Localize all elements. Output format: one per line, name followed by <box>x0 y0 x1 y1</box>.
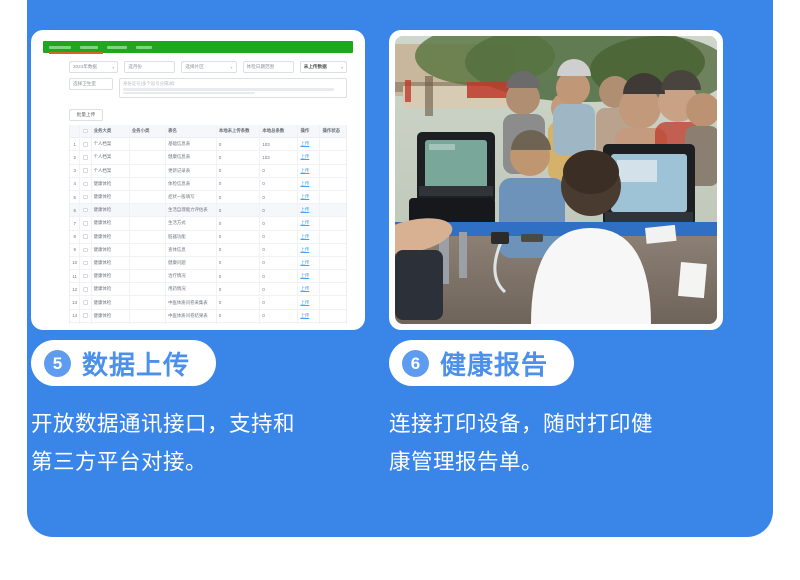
table-header-row: 业务大类 业务小类 表名 本地未上传条数 本地总条数 操作 操作状态 <box>70 125 346 138</box>
body-line-6-1: 连接打印设备，随时打印健 <box>389 405 723 443</box>
row-checkbox[interactable] <box>80 151 91 163</box>
cell-total-count: 0 <box>260 165 298 177</box>
table-body: 1个人档案基础信息表0103上传2个人档案健康信息表0103上传3个人档案更新记… <box>70 138 346 324</box>
filter-month-select[interactable]: 选月份 <box>124 61 175 73</box>
cell-total-count: 0 <box>260 283 298 295</box>
cell-category: 个人档案 <box>92 151 130 163</box>
body-line-5-2: 第三方平台对接。 <box>31 443 365 481</box>
th-total-count: 本地总条数 <box>260 125 298 137</box>
th-category: 业务大类 <box>92 125 130 137</box>
cell-category: 健康体检 <box>92 310 130 322</box>
cell-upload-link[interactable]: 上传 <box>298 244 320 256</box>
health-screening-photo <box>395 36 717 324</box>
nav-item-2[interactable] <box>80 46 98 49</box>
nav-item-4[interactable] <box>136 46 152 49</box>
row-checkbox[interactable] <box>80 191 91 203</box>
textarea-filler-1 <box>123 88 334 91</box>
filter-daterange-input[interactable]: 体检日期范围 <box>243 61 294 73</box>
th-status: 操作状态 <box>320 125 346 137</box>
section-title-6: 健康报告 <box>440 345 548 382</box>
body-copy-5: 开放数据通讯接口，支持和 第三方平台对接。 <box>31 405 365 481</box>
cell-index: 15 <box>70 323 80 324</box>
cell-index: 14 <box>70 310 80 322</box>
filter-area-select[interactable]: 选择片区 ▾ <box>181 61 236 73</box>
cell-subcategory <box>130 191 166 203</box>
cell-index: 11 <box>70 270 80 282</box>
cell-upload-link[interactable]: 上传 <box>298 257 320 269</box>
checkbox-icon[interactable] <box>83 142 88 147</box>
row-checkbox[interactable] <box>80 323 91 324</box>
clinic-select[interactable]: 选择卫生室 <box>69 78 113 90</box>
cell-category: 健康体检 <box>92 204 130 216</box>
cell-category: 健康体检 <box>92 191 130 203</box>
row-checkbox[interactable] <box>80 165 91 177</box>
th-operation: 操作 <box>298 125 320 137</box>
cell-pending-count: 0 <box>217 191 261 203</box>
cell-pending-count: 0 <box>217 244 261 256</box>
cell-status <box>320 217 346 229</box>
cell-upload-link[interactable]: 上传 <box>298 296 320 308</box>
photo-card <box>389 30 723 330</box>
cell-total-count: 103 <box>260 138 298 150</box>
cell-index: 8 <box>70 231 80 243</box>
cell-table-name: 生活方式 <box>166 217 217 229</box>
nav-item-1[interactable] <box>49 46 71 49</box>
cell-upload-link[interactable]: 上传 <box>298 310 320 322</box>
table-row[interactable]: 12健康体检用药情况00上传 <box>70 283 346 296</box>
row-checkbox[interactable] <box>80 257 91 269</box>
cell-status <box>320 151 346 163</box>
textarea-filler-2 <box>123 92 255 95</box>
cell-table-name: 治疗情况 <box>166 270 217 282</box>
body-copy-6: 连接打印设备，随时打印健 康管理报告单。 <box>389 405 723 481</box>
step-number-badge-6: 6 <box>402 350 429 377</box>
cell-upload-link[interactable]: 上传 <box>298 270 320 282</box>
cell-pending-count: 0 <box>217 283 261 295</box>
cell-status <box>320 323 346 324</box>
cell-upload-link[interactable]: 上传 <box>298 165 320 177</box>
idcard-placeholder: 身份证号(多个逗号分隔)如: <box>123 81 175 86</box>
cell-category: 健康体检 <box>92 296 130 308</box>
cell-upload-link[interactable]: 上传 <box>298 231 320 243</box>
cell-pending-count: 0 <box>217 270 261 282</box>
cell-upload-link[interactable]: 上传 <box>298 178 320 190</box>
cell-status <box>320 296 346 308</box>
section-title-5: 数据上传 <box>82 345 190 382</box>
cell-status <box>320 178 346 190</box>
section-pill-6: 6 健康报告 <box>389 340 574 386</box>
cell-pending-count: 0 <box>217 257 261 269</box>
filter-daterange-label: 体检日期范围 <box>247 64 275 70</box>
row-checkbox[interactable] <box>80 270 91 282</box>
cell-total-count: 0 <box>260 310 298 322</box>
checkbox-icon[interactable] <box>83 155 88 160</box>
cell-upload-link[interactable]: 上传 <box>298 191 320 203</box>
checkbox-icon[interactable] <box>83 300 88 305</box>
filter-bar: 2024年数据 ▾ 选月份 选择片区 ▾ 体检日期范围 <box>37 53 359 73</box>
cell-pending-count: 0 <box>217 310 261 322</box>
row-checkbox[interactable] <box>80 310 91 322</box>
checkbox-icon[interactable] <box>83 195 88 200</box>
cell-upload-link[interactable]: 上传 <box>298 151 320 163</box>
row-checkbox[interactable] <box>80 204 91 216</box>
cell-upload-link[interactable]: 上传 <box>298 283 320 295</box>
screenshot-card: 2024年数据 ▾ 选月份 选择片区 ▾ 体检日期范围 <box>31 30 365 330</box>
checkbox-icon[interactable] <box>83 234 88 239</box>
cell-status <box>320 283 346 295</box>
cell-subcategory <box>130 244 166 256</box>
cell-category: 健康体检 <box>92 283 130 295</box>
cell-total-count: 0 <box>260 217 298 229</box>
cell-table-name: 中医体质问卷采集表 <box>166 296 217 308</box>
cell-status <box>320 165 346 177</box>
cell-table-name: 基础信息表 <box>166 138 217 150</box>
cell-status <box>320 191 346 203</box>
cell-subcategory <box>130 151 166 163</box>
cell-subcategory <box>130 310 166 322</box>
cell-pending-count: 0 <box>217 151 261 163</box>
body-copy-row: 开放数据通讯接口，支持和 第三方平台对接。 连接打印设备，随时打印健 康管理报告… <box>31 405 723 481</box>
cell-pending-count: 0 <box>217 217 261 229</box>
table-row[interactable]: 14健康体检中医体质问卷结果表00上传 <box>70 310 346 323</box>
cell-upload-link[interactable]: 上传 <box>298 217 320 229</box>
card-row: 2024年数据 ▾ 选月份 选择片区 ▾ 体检日期范围 <box>31 30 723 330</box>
cell-subcategory <box>130 323 166 324</box>
cell-table-name: 用药情况 <box>166 283 217 295</box>
th-pending-count: 本地未上传条数 <box>217 125 261 137</box>
cell-upload-link[interactable]: 上传 <box>298 323 320 324</box>
cell-subcategory <box>130 217 166 229</box>
cell-total-count: 0 <box>260 244 298 256</box>
cell-table-name: 健康信息表 <box>166 151 217 163</box>
cell-subcategory <box>130 296 166 308</box>
cell-index: 4 <box>70 178 80 190</box>
cell-status <box>320 244 346 256</box>
table-row[interactable]: 2个人档案健康信息表0103上传 <box>70 151 346 164</box>
table-row[interactable]: 9健康体检查体信息00上传 <box>70 244 346 257</box>
cell-category: 个人档案 <box>92 138 130 150</box>
idcard-textarea[interactable]: 身份证号(多个逗号分隔)如: <box>119 78 347 98</box>
cell-subcategory <box>130 165 166 177</box>
row-checkbox[interactable] <box>80 231 91 243</box>
cell-table-name: 脏器功能 <box>166 231 217 243</box>
cell-table-name: 中医体质问卷结果表 <box>166 310 217 322</box>
filter-upload-state-select[interactable]: 未上传数据 ▾ <box>300 61 347 73</box>
checkbox-icon[interactable] <box>83 221 88 226</box>
section-pill-5: 5 数据上传 <box>31 340 216 386</box>
cell-subcategory <box>130 283 166 295</box>
cell-pending-count: 0 <box>217 231 261 243</box>
cell-category: 健康体检 <box>92 178 130 190</box>
cell-pending-count: 0 <box>217 165 261 177</box>
checkbox-icon[interactable] <box>83 248 88 253</box>
checkbox-icon[interactable] <box>83 182 88 187</box>
cell-index: 13 <box>70 296 80 308</box>
table-row[interactable]: 5健康体检症状一般填写00上传 <box>70 191 346 204</box>
action-row: 批量上传 <box>37 98 359 121</box>
cell-table-name: 查体信息 <box>166 244 217 256</box>
cell-upload-link[interactable]: 上传 <box>298 138 320 150</box>
cell-table-name: 生活自理能力评估表 <box>166 204 217 216</box>
bulk-upload-button[interactable]: 批量上传 <box>69 109 103 121</box>
nav-item-3[interactable] <box>107 46 127 49</box>
cell-table-name: 症状一般填写 <box>166 191 217 203</box>
cell-category: 健康体检 <box>92 231 130 243</box>
cell-upload-link[interactable]: 上传 <box>298 204 320 216</box>
table-row[interactable]: 11健康体检治疗情况00上传 <box>70 270 346 283</box>
cell-index: 7 <box>70 217 80 229</box>
upload-table: 业务大类 业务小类 表名 本地未上传条数 本地总条数 操作 操作状态 1个人档案… <box>69 125 347 324</box>
cell-category: 健康体检 <box>92 257 130 269</box>
cell-total-count: 0 <box>260 231 298 243</box>
cell-table-name: 心电 <box>166 323 217 324</box>
cell-table-name: 体检信息表 <box>166 178 217 190</box>
cell-subcategory <box>130 138 166 150</box>
cell-index: 1 <box>70 138 80 150</box>
cell-pending-count: 0 <box>217 296 261 308</box>
nav-active-underline <box>49 52 103 54</box>
cell-pending-count: 0 <box>217 138 261 150</box>
cell-table-name: 更新记录表 <box>166 165 217 177</box>
checkbox-icon[interactable] <box>83 208 88 213</box>
th-select-all[interactable] <box>80 125 91 137</box>
app-screenshot: 2024年数据 ▾ 选月份 选择片区 ▾ 体检日期范围 <box>37 36 359 324</box>
cell-subcategory <box>130 204 166 216</box>
cell-total-count: 0 <box>260 323 298 324</box>
cell-subcategory <box>130 270 166 282</box>
heading-row: 5 数据上传 6 健康报告 <box>31 340 723 386</box>
photo-illustration <box>395 36 717 324</box>
cell-status <box>320 270 346 282</box>
cell-total-count: 0 <box>260 178 298 190</box>
cell-status <box>320 231 346 243</box>
cell-index: 10 <box>70 257 80 269</box>
cell-category: 个人档案 <box>92 165 130 177</box>
filter-month-label: 选月份 <box>128 64 142 70</box>
table-row[interactable]: 4健康体检体检信息表00上传 <box>70 178 346 191</box>
cell-total-count: 0 <box>260 270 298 282</box>
cell-pending-count: 0 <box>217 204 261 216</box>
checkbox-icon[interactable] <box>83 261 88 266</box>
th-subcategory: 业务小类 <box>130 125 166 137</box>
cell-category: 健康体检 <box>92 217 130 229</box>
filter-year-select[interactable]: 2024年数据 ▾ <box>69 61 118 73</box>
table-row[interactable]: 10健康体检健康问题00上传 <box>70 257 346 270</box>
row-checkbox[interactable] <box>80 217 91 229</box>
table-row[interactable]: 13健康体检中医体质问卷采集表00上传 <box>70 296 346 309</box>
step-number-badge-5: 5 <box>44 350 71 377</box>
cell-table-name: 健康问题 <box>166 257 217 269</box>
cell-index: 2 <box>70 151 80 163</box>
th-table-name: 表名 <box>166 125 217 137</box>
cell-index: 12 <box>70 283 80 295</box>
checkbox-icon[interactable] <box>83 313 88 318</box>
body-line-5-1: 开放数据通讯接口，支持和 <box>31 405 365 443</box>
table-row[interactable]: 3个人档案更新记录表00上传 <box>70 165 346 178</box>
cell-category: 健康体检 <box>92 323 130 324</box>
cell-subcategory <box>130 231 166 243</box>
cell-index: 9 <box>70 244 80 256</box>
cell-total-count: 0 <box>260 257 298 269</box>
clinic-row: 选择卫生室 身份证号(多个逗号分隔)如: <box>37 73 359 98</box>
row-checkbox[interactable] <box>80 283 91 295</box>
cell-subcategory <box>130 178 166 190</box>
row-checkbox[interactable] <box>80 244 91 256</box>
checkbox-icon[interactable] <box>83 129 88 134</box>
table-row[interactable]: 7健康体检生活方式00上传 <box>70 217 346 230</box>
table-row[interactable]: 6健康体检生活自理能力评估表00上传 <box>70 204 346 217</box>
cell-status <box>320 204 346 216</box>
th-index <box>70 125 80 137</box>
cell-index: 3 <box>70 165 80 177</box>
chevron-down-icon: ▾ <box>112 65 114 70</box>
app-navbar <box>43 41 353 53</box>
filter-upload-state-label: 未上传数据 <box>304 64 327 70</box>
body-line-6-2: 康管理报告单。 <box>389 443 723 481</box>
cell-category: 健康体检 <box>92 270 130 282</box>
cell-status <box>320 257 346 269</box>
cell-index: 5 <box>70 191 80 203</box>
filter-year-label: 2024年数据 <box>73 64 97 70</box>
cell-status <box>320 310 346 322</box>
cell-total-count: 103 <box>260 151 298 163</box>
cell-total-count: 0 <box>260 191 298 203</box>
row-checkbox[interactable] <box>80 178 91 190</box>
table-row[interactable]: 8健康体检脏器功能00上传 <box>70 231 346 244</box>
cell-subcategory <box>130 257 166 269</box>
state-chevron-down-icon: ▾ <box>341 65 343 70</box>
table-row[interactable]: 1个人档案基础信息表0103上传 <box>70 138 346 151</box>
checkbox-icon[interactable] <box>83 274 88 279</box>
table-row[interactable]: 15健康体检心电00上传 <box>70 323 346 324</box>
cell-pending-count: 0 <box>217 178 261 190</box>
row-checkbox[interactable] <box>80 138 91 150</box>
checkbox-icon[interactable] <box>83 287 88 292</box>
filter-area-label: 选择片区 <box>185 64 203 70</box>
cell-index: 6 <box>70 204 80 216</box>
checkbox-icon[interactable] <box>83 168 88 173</box>
cell-total-count: 0 <box>260 296 298 308</box>
cell-status <box>320 138 346 150</box>
cell-total-count: 0 <box>260 204 298 216</box>
area-chevron-down-icon: ▾ <box>231 65 233 70</box>
cell-pending-count: 0 <box>217 323 261 324</box>
row-checkbox[interactable] <box>80 296 91 308</box>
cell-category: 健康体检 <box>92 244 130 256</box>
poster-root: 2024年数据 ▾ 选月份 选择片区 ▾ 体检日期范围 <box>0 0 800 580</box>
